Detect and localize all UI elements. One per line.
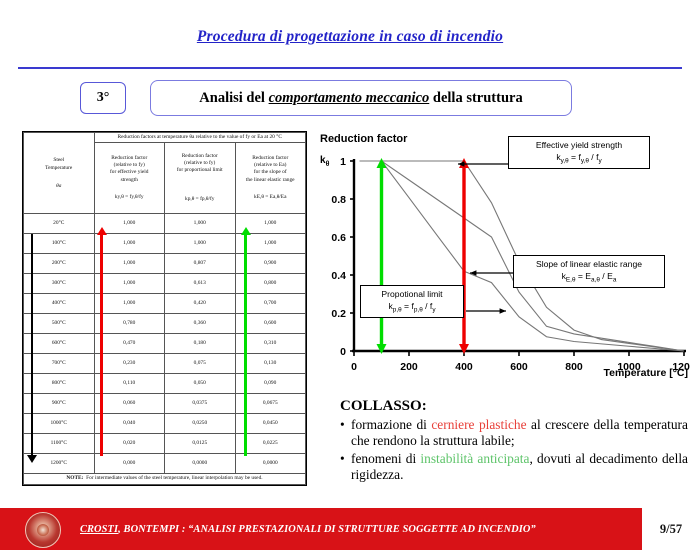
step-text-prefix: Analisi del <box>199 90 268 106</box>
cell-ky: 0,230 <box>94 353 165 373</box>
table-header-col-slope: Reduction factor(relative to Ea)for the … <box>235 143 306 213</box>
cell-kp: 0,360 <box>165 313 236 333</box>
table-header-steel-temperature: SteelTemperatureθa <box>24 133 95 214</box>
collasso-heading: COLLASSO: <box>340 398 688 415</box>
callout-proportional-limit: Propotional limit kp,θ = fp,θ / fy <box>360 285 464 318</box>
cell-kp: 1,000 <box>165 233 236 253</box>
list-item: • fenomeni di instabilità anticipata, do… <box>340 451 688 484</box>
cell-ky: 0,110 <box>94 373 165 393</box>
cell-kp: 0,180 <box>165 333 236 353</box>
svg-text:800: 800 <box>565 361 583 373</box>
cell-ky: 1,000 <box>94 233 165 253</box>
callout-slope-linear-elastic: Slope of linear elastic range kE,θ = Ea,… <box>513 255 665 288</box>
callout-prop-line2: kp,θ = fp,θ / fy <box>366 300 458 315</box>
callout-effective-yield-strength: Effective yield strength ky,θ = fy,θ / f… <box>508 136 650 169</box>
table-row: 800°C0,1100,0500,090 <box>24 373 306 393</box>
table-temperature-direction-arrow <box>31 234 33 456</box>
cell-ky: 0,780 <box>94 313 165 333</box>
table-header-col-yield: Reduction factor(relative to fy)for effe… <box>94 143 165 213</box>
cell-kp: 0,075 <box>165 353 236 373</box>
svg-text:0.8: 0.8 <box>331 194 346 206</box>
title-divider <box>18 67 682 69</box>
svg-text:0.6: 0.6 <box>331 232 346 244</box>
reduction-factors-table: SteelTemperatureθaReduction factors at t… <box>22 131 307 486</box>
cell-temperature: 800°C <box>24 373 95 393</box>
step-text-emphasis: comportamento meccanico <box>269 90 430 106</box>
svg-text:400: 400 <box>455 361 473 373</box>
cell-kp: 0,807 <box>165 253 236 273</box>
cell-temperature: 1100°C <box>24 433 95 453</box>
table-header-col-prop: Reduction factor(relative to fy)for prop… <box>165 143 236 213</box>
cell-ky: 1,000 <box>94 273 165 293</box>
cell-kp: 1,000 <box>165 213 236 233</box>
cell-temperature: 700°C <box>24 353 95 373</box>
cell-ky: 0,470 <box>94 333 165 353</box>
table-row: 400°C1,0000,4200,700 <box>24 293 306 313</box>
table-row: 200°C1,0000,8070,900 <box>24 253 306 273</box>
table-row: 1000°C0,0400,02500,0450 <box>24 413 306 433</box>
cell-temperature: 1000°C <box>24 413 95 433</box>
cell-kp: 0,0125 <box>165 433 236 453</box>
table-row: 300°C1,0000,6130,800 <box>24 273 306 293</box>
reduction-factor-chart: Reduction factor kθ 00.20.40.60.81020040… <box>318 133 690 383</box>
cell-ky: 0,020 <box>94 433 165 453</box>
list-item: • formazione di cerniere plastiche al cr… <box>340 417 688 450</box>
table-row: 1100°C0,0200,01250,0225 <box>24 433 306 453</box>
cell-kp: 0,613 <box>165 273 236 293</box>
step-number-label: 3° <box>97 90 110 106</box>
bullet-icon: • <box>340 451 351 484</box>
university-seal-icon <box>25 512 61 548</box>
page-number: 9/57 <box>642 508 700 550</box>
callout-yield-line1: Effective yield strength <box>514 139 644 151</box>
table-row: 1200°C0,0000,00000,0000 <box>24 453 306 473</box>
footer-authors: CROSTI <box>80 524 118 535</box>
table-row: 600°C0,4700,1800,310 <box>24 333 306 353</box>
svg-text:1: 1 <box>340 156 346 168</box>
table-row: 700°C0,2300,0750,130 <box>24 353 306 373</box>
bullet-icon: • <box>340 417 351 450</box>
footer-citation: CROSTI, BONTEMPI : “ANALISI PRESTAZIONAL… <box>80 508 550 550</box>
step-description-box: Analisi del comportamento meccanico dell… <box>150 80 572 116</box>
svg-text:0.4: 0.4 <box>331 270 346 282</box>
table-header-span: Reduction factors at temperature θa rela… <box>94 133 306 143</box>
table-row: 100°C1,0001,0001,000 <box>24 233 306 253</box>
cell-kE: 0,0000 <box>235 453 306 473</box>
cell-kp: 0,050 <box>165 373 236 393</box>
cell-ky: 0,000 <box>94 453 165 473</box>
bullet-1-text: formazione di cerniere plastiche al cres… <box>351 417 688 450</box>
cell-kp: 0,420 <box>165 293 236 313</box>
step-number-badge: 3° <box>80 82 126 114</box>
callout-slope-line1: Slope of linear elastic range <box>519 258 659 270</box>
svg-text:600: 600 <box>510 361 528 373</box>
table-green-highlight-arrow <box>244 234 247 456</box>
callout-prop-line1: Propotional limit <box>366 288 458 300</box>
bullet-2-highlight: instabilità anticipata <box>420 451 529 466</box>
callout-slope-line2: kE,θ = Ea,θ / Ea <box>519 270 659 285</box>
collasso-section: COLLASSO: • formazione di cerniere plast… <box>340 398 688 484</box>
cell-kp: 0,0375 <box>165 393 236 413</box>
cell-temperature: 400°C <box>24 293 95 313</box>
footer-bar: CROSTI, BONTEMPI : “ANALISI PRESTAZIONAL… <box>0 508 700 550</box>
svg-text:200: 200 <box>400 361 418 373</box>
cell-ky: 0,060 <box>94 393 165 413</box>
chart-x-axis-title: Temperature [°C] <box>603 367 688 379</box>
cell-kp: 0,0000 <box>165 453 236 473</box>
table-row: 20°C1,0001,0001,000 <box>24 213 306 233</box>
cell-temperature: 200°C <box>24 253 95 273</box>
cell-ky: 0,040 <box>94 413 165 433</box>
cell-temperature: 20°C <box>24 213 95 233</box>
svg-text:0: 0 <box>340 346 346 358</box>
table-note: NOTE: For intermediate values of the ste… <box>24 473 306 484</box>
table-row: 900°C0,0600,03750,0675 <box>24 393 306 413</box>
bullet-1-highlight: cerniere plastiche <box>431 417 526 432</box>
cell-ky: 1,000 <box>94 293 165 313</box>
bullet-2-text: fenomeni di instabilità anticipata, dovu… <box>351 451 688 484</box>
cell-temperature: 300°C <box>24 273 95 293</box>
table-row: 500°C0,7800,3600,600 <box>24 313 306 333</box>
cell-temperature: 100°C <box>24 233 95 253</box>
table-red-highlight-arrow <box>100 234 103 456</box>
cell-kp: 0,0250 <box>165 413 236 433</box>
callout-yield-line2: ky,θ = fy,θ / fy <box>514 151 644 166</box>
step-text-suffix: della struttura <box>429 90 522 106</box>
svg-text:0.2: 0.2 <box>331 308 346 320</box>
footer-citation-rest: , BONTEMPI : “ANALISI PRESTAZIONALI DI S… <box>118 524 536 535</box>
svg-text:0: 0 <box>351 361 357 373</box>
cell-ky: 1,000 <box>94 253 165 273</box>
page-title: Procedura di progettazione in caso di in… <box>0 28 700 46</box>
cell-temperature: 500°C <box>24 313 95 333</box>
cell-temperature: 600°C <box>24 333 95 353</box>
cell-temperature: 900°C <box>24 393 95 413</box>
